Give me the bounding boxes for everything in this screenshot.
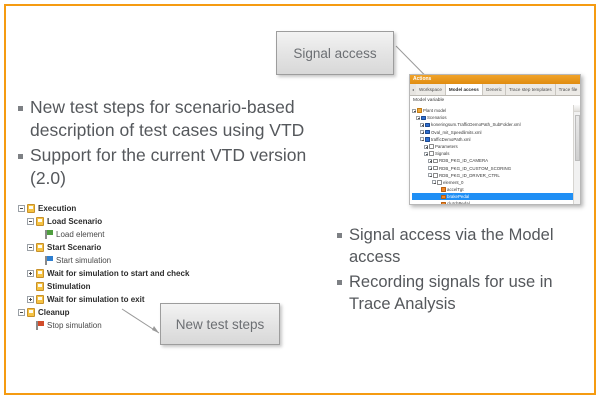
model-tree-grp-icon	[433, 166, 438, 171]
model-tree-label: koneringsum.TrafficDemoPath_SubFolder.xm…	[431, 121, 521, 128]
scroll-up-button[interactable]	[574, 105, 580, 112]
tree-expander-minus-icon[interactable]	[428, 173, 432, 177]
callout-new-test-steps-label: New test steps	[176, 317, 265, 332]
model-tree-folder-icon	[417, 108, 422, 113]
vertical-scrollbar[interactable]	[573, 105, 580, 204]
model-tree-row[interactable]: RDB_PKG_ID_CUSTOM_SCORING	[412, 165, 573, 172]
model-tree-row[interactable]: Plant model	[412, 107, 573, 114]
model-tree-row[interactable]: RDB_PKG_ID_DRIVER_CTRL	[412, 172, 573, 179]
model-tree-label: Oval_mit_Speedlimits.xml	[431, 129, 482, 136]
callout-new-test-steps: New test steps	[160, 303, 280, 345]
tree-expander-placeholder	[436, 195, 440, 199]
model-tree-xml-icon	[425, 123, 430, 128]
model-tree-sig-icon	[441, 202, 446, 204]
model-tree-label: Plant model	[423, 107, 446, 114]
tree-expander-placeholder	[436, 202, 440, 204]
model-tree-row[interactable]: Scenarios	[412, 114, 573, 121]
model-tree-label: clutchPedal	[447, 200, 470, 204]
model-tree-row-selected[interactable]: brakePedal	[412, 193, 573, 200]
model-tree-row[interactable]: clutchPedal	[412, 200, 573, 204]
tree-expander-plus-icon[interactable]	[428, 166, 432, 170]
model-tree-xml-icon	[425, 137, 430, 142]
model-tree-row[interactable]: accelTgt	[412, 186, 573, 193]
callout-signal-access: Signal access	[276, 31, 394, 75]
tree-expander-plus-icon[interactable]	[420, 123, 424, 127]
model-tree-sig-icon	[441, 195, 446, 200]
model-tree-label: RDB_PKG_ID_CUSTOM_SCORING	[439, 165, 511, 172]
tab-model-access[interactable]: Model access	[446, 84, 483, 95]
tab-bar[interactable]: ◂WorkspaceModel accessGenericTrace step …	[410, 84, 580, 96]
model-tree-label: Parameters	[435, 143, 458, 150]
model-tree-grp-icon	[433, 159, 438, 164]
tree-expander-plus-icon[interactable]	[428, 159, 432, 163]
model-tree-row[interactable]: koneringsum.TrafficDemoPath_SubFolder.xm…	[412, 121, 573, 128]
model-tree-row[interactable]: RDB_PKG_ID_CAMERA	[412, 157, 573, 164]
model-tree-label: RDB_PKG_ID_CAMERA	[439, 157, 488, 164]
tree-expander-minus-icon[interactable]	[412, 109, 416, 113]
model-access-body: Plant modelScenarioskoneringsum.TrafficD…	[410, 105, 580, 204]
tree-expander-plus-icon[interactable]	[424, 145, 428, 149]
tab-workspace[interactable]: Workspace	[416, 84, 446, 95]
model-tree-label: Scenarios	[427, 114, 447, 121]
model-tree-grp-icon	[437, 180, 442, 185]
tree-column-header-label: Model variable	[413, 98, 444, 103]
model-tree-label: RDB_PKG_ID_DRIVER_CTRL	[439, 172, 500, 179]
model-tree-xml-icon	[421, 116, 426, 121]
model-tree-xml-icon	[425, 130, 430, 135]
model-tree-sig-icon	[441, 187, 446, 192]
model-tree-row[interactable]: trafficDemoPath.xml	[412, 136, 573, 143]
tree-expander-minus-icon[interactable]	[432, 180, 436, 184]
slide-canvas: New test steps for scenario-based descri…	[0, 0, 600, 400]
model-tree-label: element_0	[443, 179, 464, 186]
scrollbar-thumb[interactable]	[575, 115, 580, 161]
tab-trace-file[interactable]: Trace file	[556, 84, 581, 95]
model-tree-row[interactable]: Signals	[412, 150, 573, 157]
tab-generic[interactable]: Generic	[483, 84, 506, 95]
window-title: Actions	[413, 76, 431, 82]
model-tree-grp-icon	[429, 144, 434, 149]
application-window-screenshot: Actions ◂WorkspaceModel accessGenericTra…	[409, 74, 581, 205]
tree-expander-minus-icon[interactable]	[420, 137, 424, 141]
model-variable-tree[interactable]: Plant modelScenarioskoneringsum.TrafficD…	[410, 105, 573, 204]
tree-expander-plus-icon[interactable]	[420, 130, 424, 134]
tree-expander-minus-icon[interactable]	[424, 152, 428, 156]
window-title-bar: Actions	[410, 75, 580, 84]
callout-signal-access-label: Signal access	[293, 46, 376, 61]
model-tree-label: brakePedal	[447, 193, 469, 200]
model-tree-row[interactable]: element_0	[412, 179, 573, 186]
tree-expander-minus-icon[interactable]	[416, 116, 420, 120]
model-tree-label: Signals	[435, 150, 449, 157]
model-tree-label: trafficDemoPath.xml	[431, 136, 470, 143]
model-tree-row[interactable]: Oval_mit_Speedlimits.xml	[412, 129, 573, 136]
model-tree-label: accelTgt	[447, 186, 464, 193]
tab-trace-step-templates[interactable]: Trace step templates	[506, 84, 556, 95]
model-tree-grp-icon	[429, 151, 434, 156]
tree-expander-placeholder	[436, 188, 440, 192]
model-tree-grp-icon	[433, 173, 438, 178]
model-tree-row[interactable]: Parameters	[412, 143, 573, 150]
